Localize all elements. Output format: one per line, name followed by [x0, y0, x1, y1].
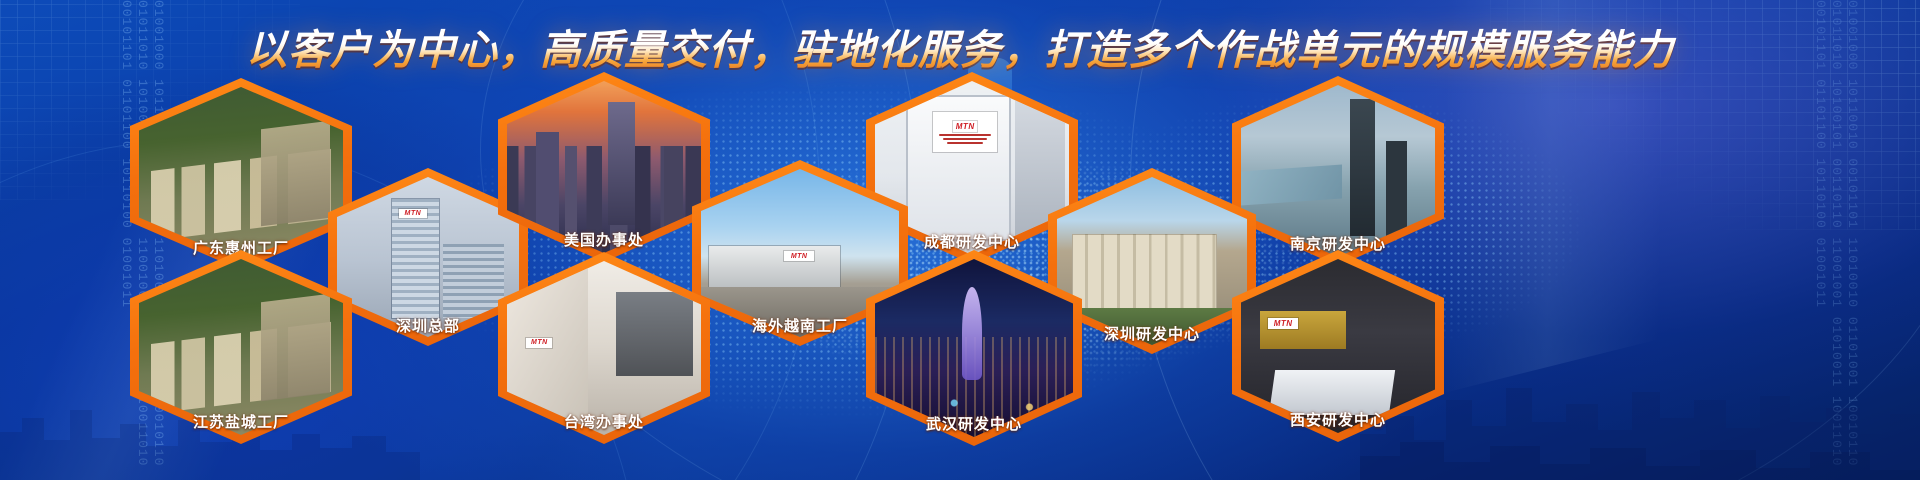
location-card-huizhou-factory[interactable]: 广东惠州工厂	[130, 78, 352, 270]
location-card-xian-rd-center[interactable]: MTN 西安研发中心	[1232, 250, 1444, 442]
mtn-logo-icon: MTN	[953, 121, 977, 132]
location-label: 台湾办事处	[498, 411, 710, 432]
mtn-logo-icon: MTN	[526, 338, 552, 348]
mtn-logo-icon: MTN	[784, 251, 814, 261]
location-label: 美国办事处	[498, 229, 710, 250]
location-card-wuhan-rd-center[interactable]: 武汉研发中心	[866, 250, 1082, 446]
location-card-usa-office[interactable]: 美国办事处	[498, 72, 710, 262]
location-card-jiangsu-yancheng-factory[interactable]: 江苏盐城工厂	[130, 250, 352, 444]
banner-stage: 01001000 10110010 00101101 11010010 0110…	[0, 0, 1920, 480]
location-label: 西安研发中心	[1232, 409, 1444, 430]
page-title: 以客户为中心，高质量交付，驻地化服务，打造多个作战单元的规模服务能力	[0, 16, 1920, 76]
company-signboard: MTN	[933, 112, 997, 152]
location-card-taiwan-office[interactable]: MTN 台湾办事处	[498, 252, 710, 444]
location-label: 武汉研发中心	[866, 413, 1082, 434]
mtn-logo-icon: MTN	[1268, 318, 1298, 329]
skyline-silhouette-right	[1360, 330, 1920, 480]
location-card-nanjing-rd-center[interactable]: 南京研发中心	[1232, 76, 1444, 266]
location-label: 江苏盐城工厂	[130, 411, 352, 432]
mtn-logo-icon: MTN	[399, 209, 427, 218]
